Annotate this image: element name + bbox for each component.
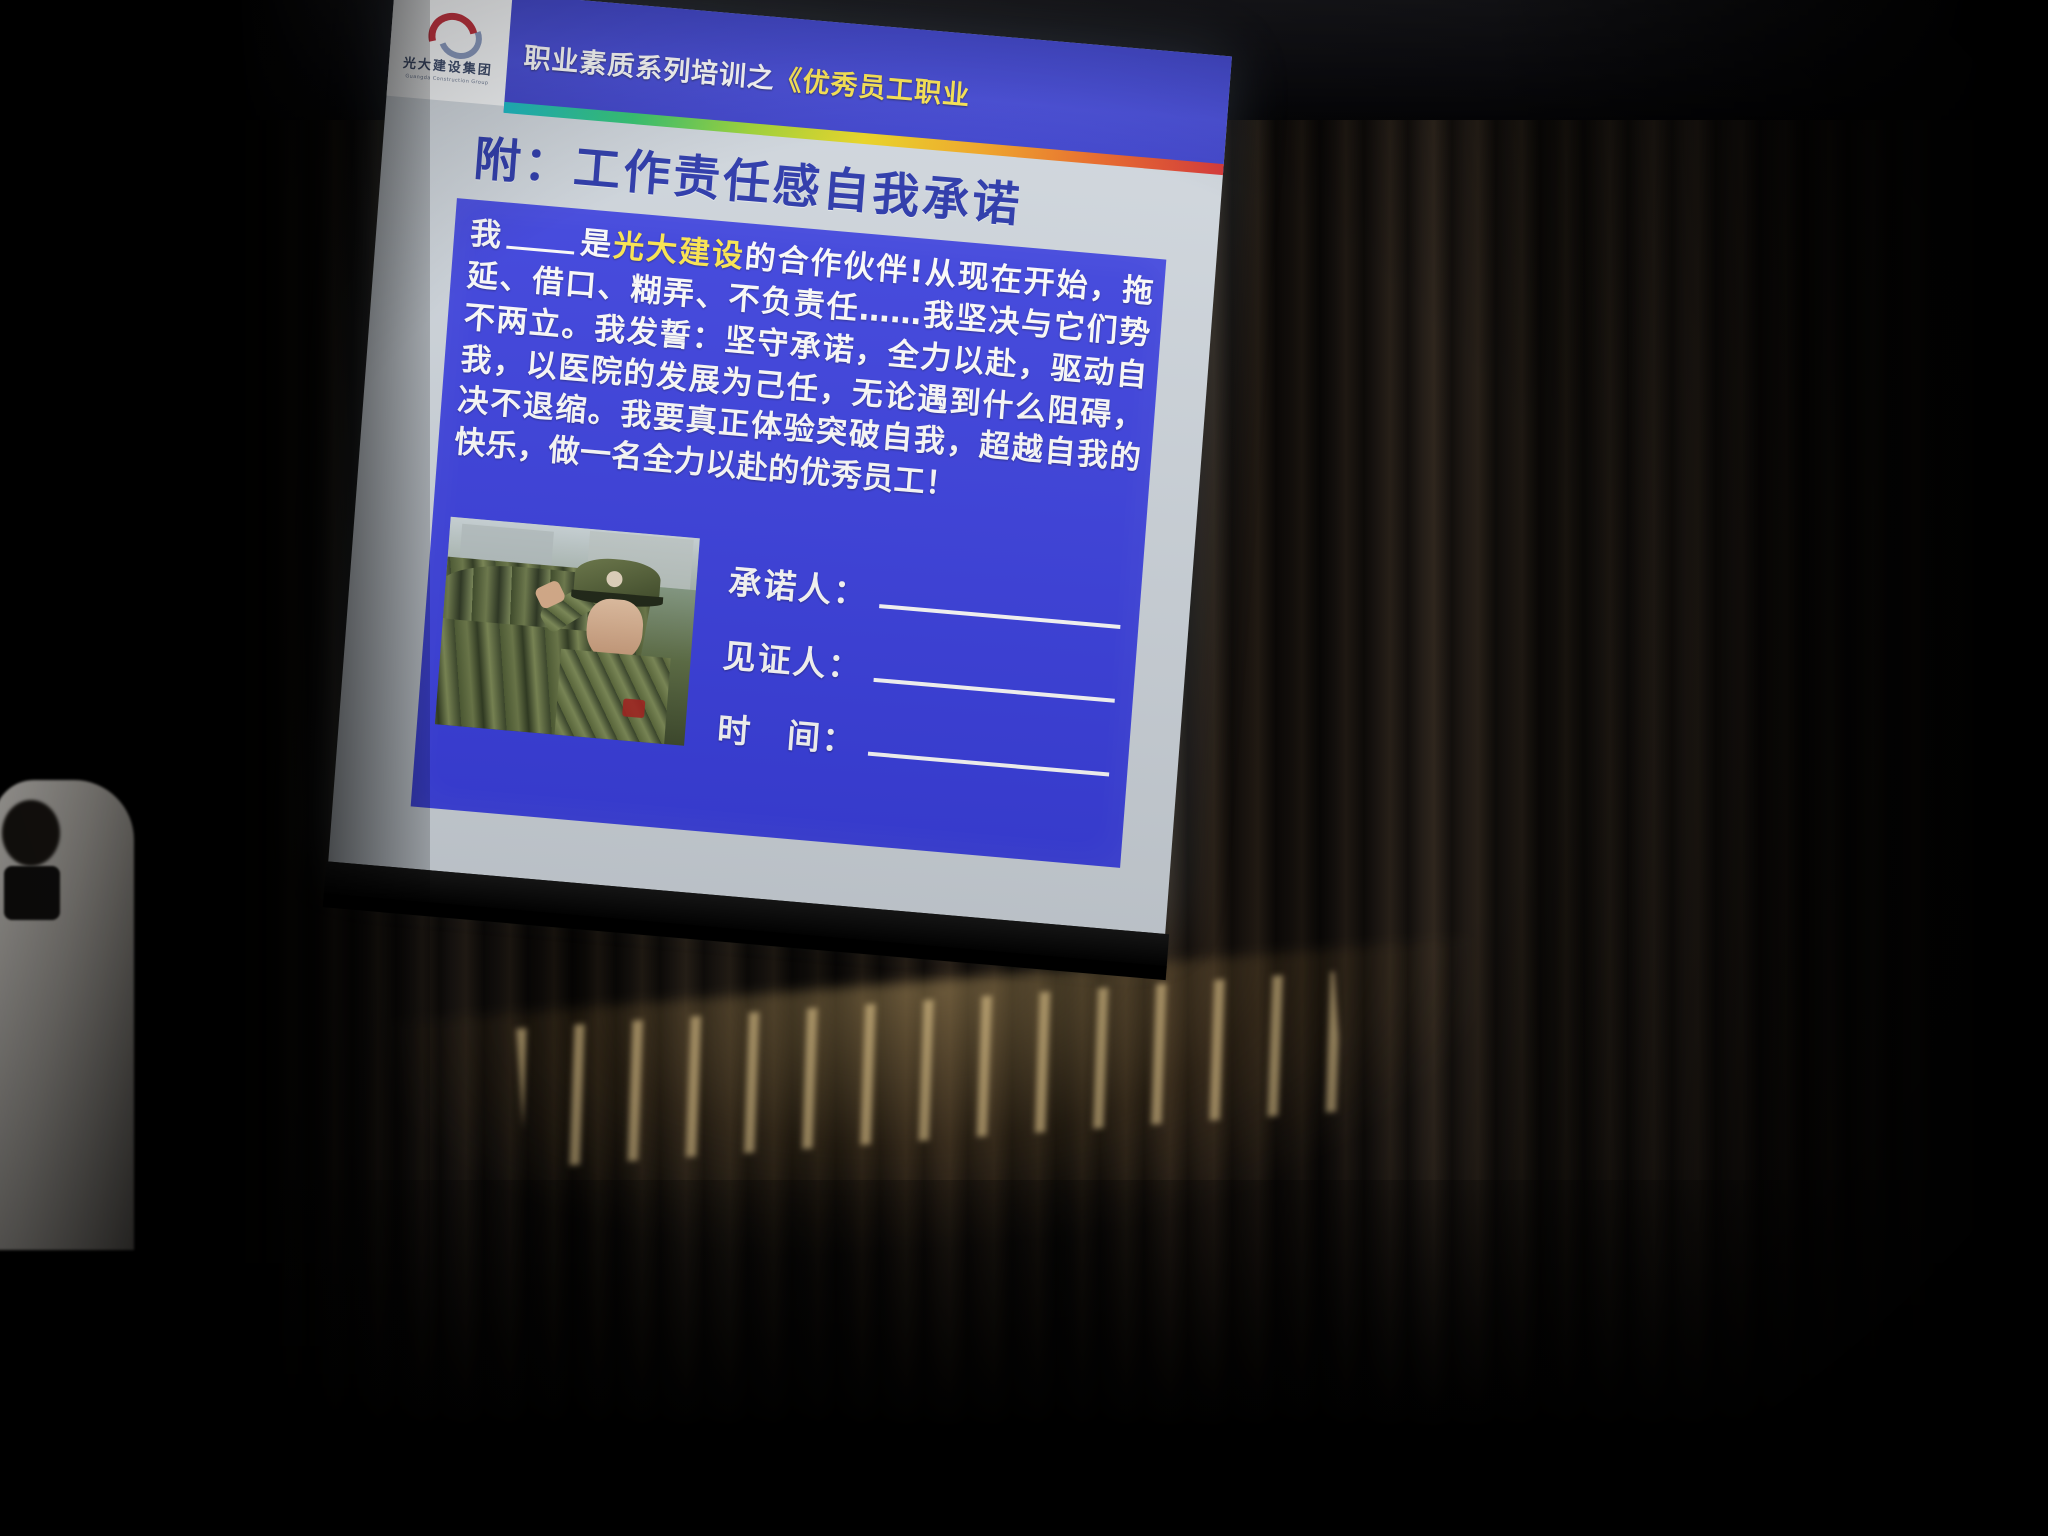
signature-row: 见证人： — [721, 629, 1117, 711]
signature-input-promisor[interactable] — [879, 604, 1120, 629]
header-banner-text: 职业素质系列培训之《优秀员工职业 — [507, 34, 972, 113]
signature-label-date: 时 间： — [716, 703, 859, 763]
pledge-i: 我 — [469, 215, 505, 254]
pledge-panel: 我是光大建设的合作伙伴!从现在开始，拖延、借口、糊弄、不负责任……我坚决与它们势… — [411, 198, 1167, 868]
signature-row: 时 间： — [716, 703, 1112, 785]
signature-input-date[interactable] — [868, 752, 1109, 777]
banner-prefix: 职业素质系列培训之 — [523, 42, 776, 95]
person-head — [2, 800, 60, 866]
signature-label-witness: 见证人： — [721, 629, 864, 689]
slide-surface: 光大建设集团 Guangda Construction Group 职业素质系列… — [328, 0, 1232, 934]
signature-block: 承诺人： 见证人： 时 间： — [714, 555, 1123, 810]
pledge-company-highlight: 光大建设 — [612, 228, 746, 275]
name-blank-line — [506, 246, 574, 255]
pledge-is: 是 — [578, 225, 615, 264]
bottom-shadow — [0, 1180, 2048, 1536]
banner-highlight: 《优秀员工职业 — [774, 64, 972, 112]
auditorium-room: 光大建设集团 Guangda Construction Group 职业素质系列… — [0, 0, 2048, 1536]
soldiers-saluting-photo — [435, 517, 700, 746]
person-camera-icon — [4, 866, 60, 920]
pledge-text: 我是光大建设的合作伙伴!从现在开始，拖延、借口、糊弄、不负责任……我坚决与它们势… — [453, 213, 1156, 523]
signature-input-witness[interactable] — [873, 678, 1114, 703]
everbright-swirl-logo-icon — [423, 5, 478, 55]
projection-screen: 光大建设集团 Guangda Construction Group 职业素质系列… — [324, 0, 1231, 984]
signature-label-promisor: 承诺人： — [727, 555, 870, 615]
pledge-body: 的合作伙伴!从现在开始，拖延、借口、糊弄、不负责任……我坚决与它们势不两立。我发… — [453, 239, 1155, 503]
signature-row: 承诺人： — [727, 555, 1123, 637]
